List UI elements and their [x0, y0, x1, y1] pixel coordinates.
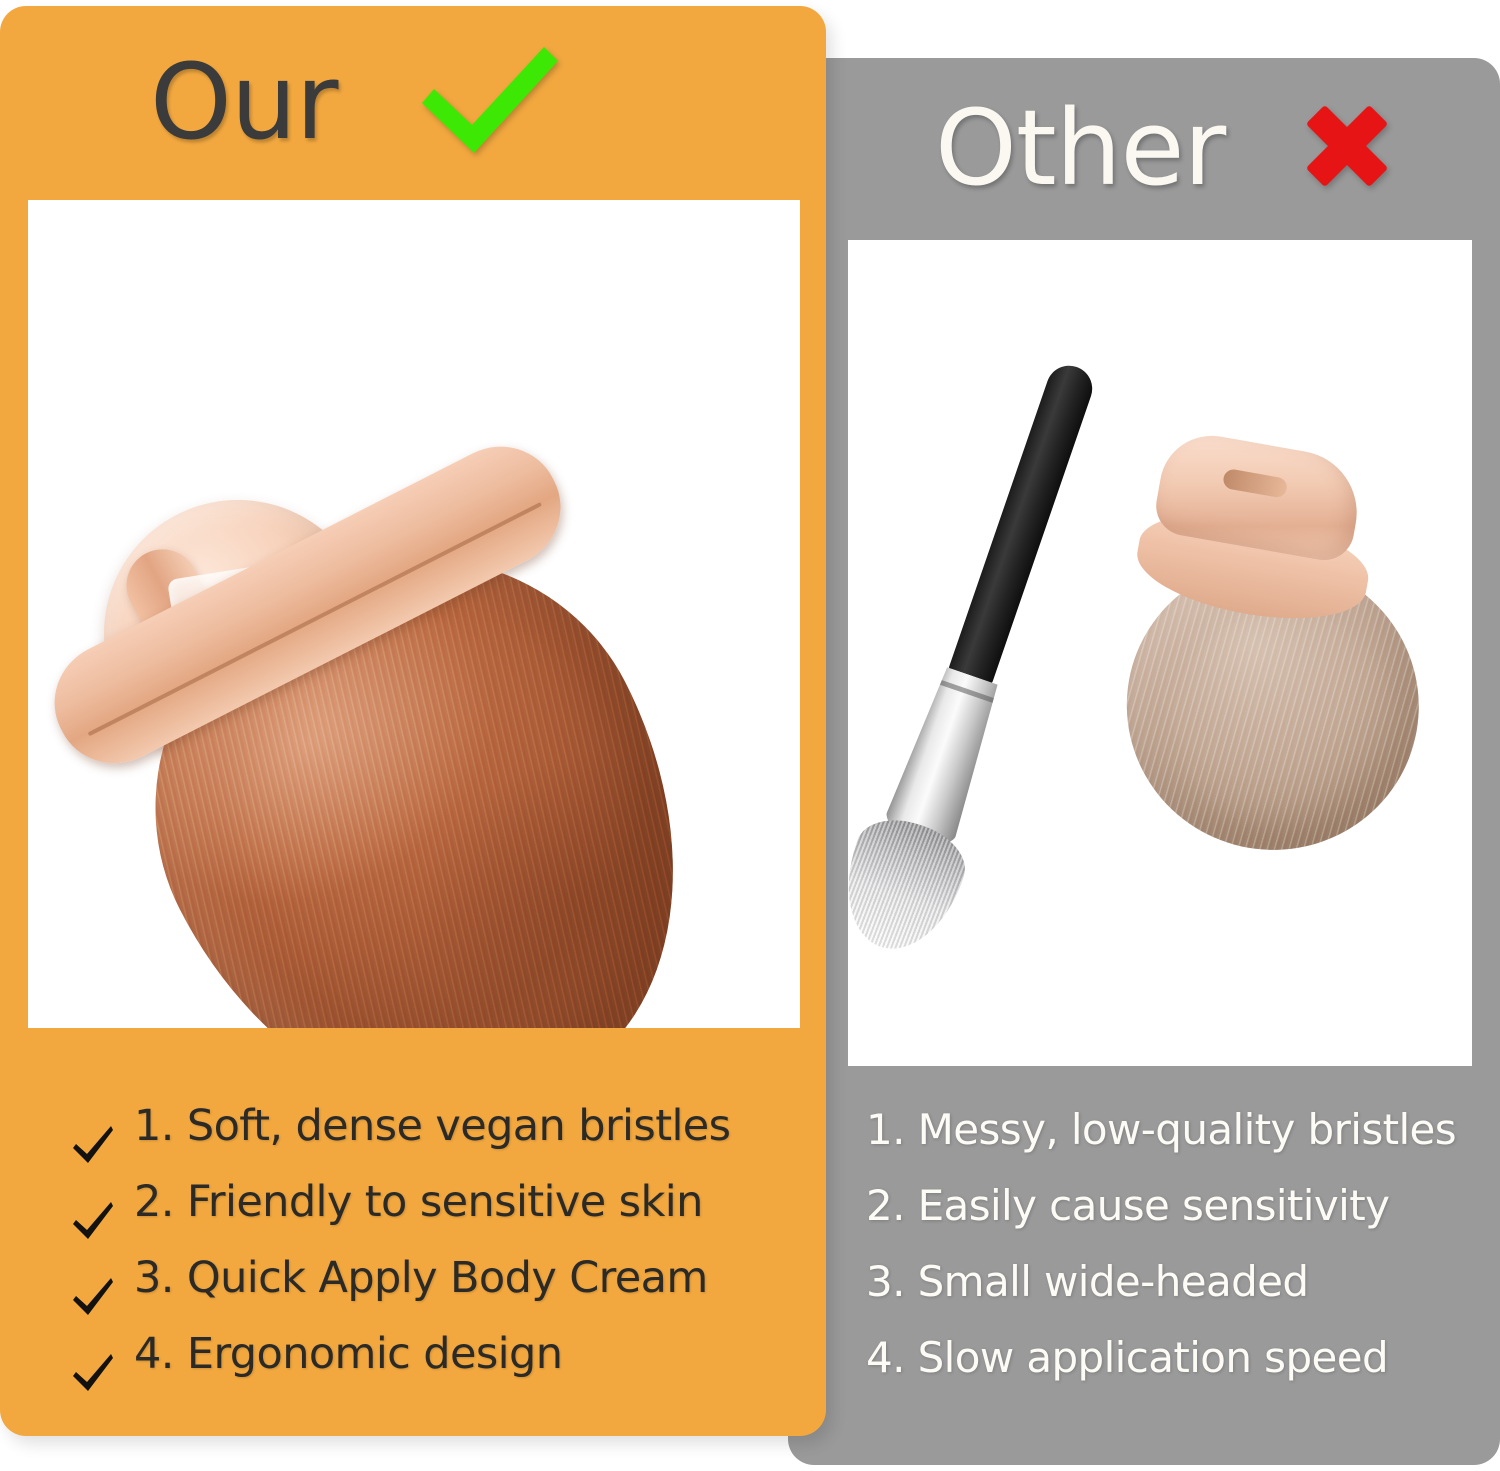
list-item: 2. Easily cause sensitivity: [866, 1184, 1486, 1260]
list-item: 1. Messy, low-quality bristles: [866, 1108, 1486, 1184]
our-product-photo: [28, 200, 800, 1028]
our-feature-label: 3. Quick Apply Body Cream: [134, 1256, 708, 1301]
brush-handle: [947, 359, 1098, 686]
comparison-infographic: Other 1. Messy, low-quality bristles 2. …: [0, 0, 1500, 1471]
list-item: 3. Quick Apply Body Cream: [62, 1256, 802, 1332]
other-feature-label: 1. Messy, low-quality bristles: [866, 1108, 1456, 1152]
black-check-icon: [70, 1350, 116, 1396]
other-feature-label: 3. Small wide-headed: [866, 1260, 1308, 1304]
black-check-icon: [70, 1198, 116, 1244]
other-feature-label: 4. Slow application speed: [866, 1336, 1388, 1380]
list-item: 4. Ergonomic design: [62, 1332, 802, 1408]
our-feature-label: 2. Friendly to sensitive skin: [134, 1180, 703, 1225]
other-feature-list: 1. Messy, low-quality bristles 2. Easily…: [866, 1108, 1486, 1412]
red-cross-icon: [1291, 90, 1403, 207]
list-item: 4. Slow application speed: [866, 1336, 1486, 1412]
our-feature-list: 1. Soft, dense vegan bristles 2. Friendl…: [62, 1104, 802, 1408]
our-feature-label: 4. Ergonomic design: [134, 1332, 562, 1377]
brush-cap-notch: [1222, 468, 1289, 499]
green-check-icon: [414, 41, 564, 164]
brush-head-group: [28, 351, 800, 1028]
other-product-photo: [848, 240, 1472, 1066]
other-feature-label: 2. Easily cause sensitivity: [866, 1184, 1389, 1228]
our-panel-title: Our: [150, 50, 338, 154]
other-panel-title: Other: [935, 96, 1225, 200]
list-item: 2. Friendly to sensitive skin: [62, 1180, 802, 1256]
black-check-icon: [70, 1122, 116, 1168]
list-item: 1. Soft, dense vegan bristles: [62, 1104, 802, 1180]
our-panel-header: Our: [150, 38, 564, 166]
our-feature-label: 1. Soft, dense vegan bristles: [134, 1104, 730, 1149]
list-item: 3. Small wide-headed: [866, 1260, 1486, 1336]
black-check-icon: [70, 1274, 116, 1320]
other-panel-header: Other: [935, 88, 1403, 208]
